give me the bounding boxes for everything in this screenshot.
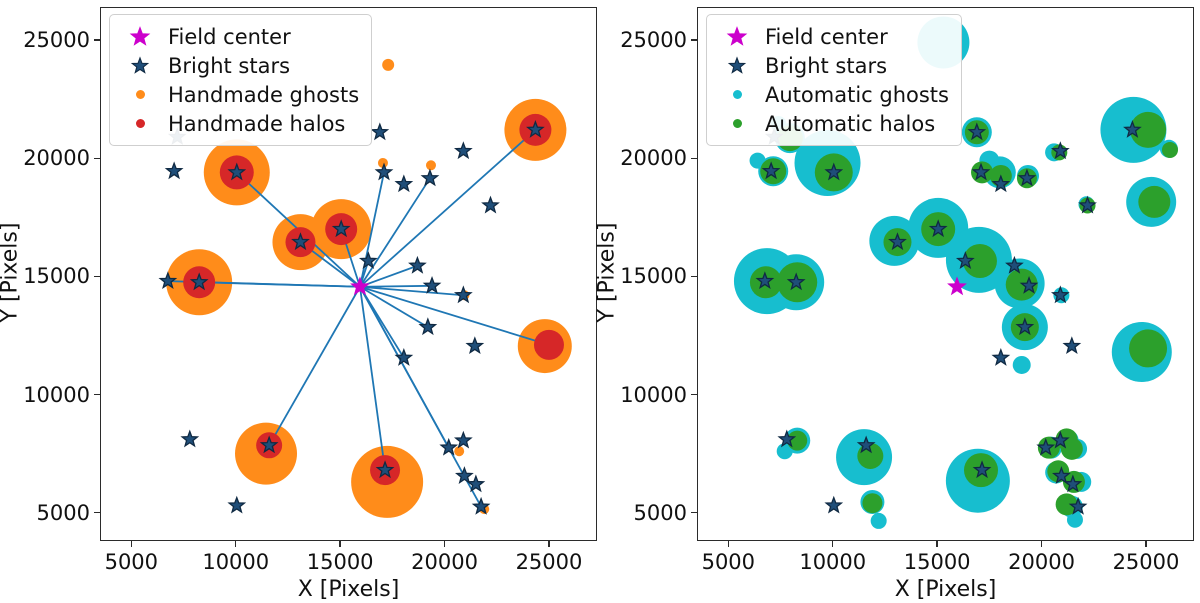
legend-item[interactable]: Automatic halos: [717, 109, 949, 138]
legend: Field centerBright starsAutomatic ghosts…: [706, 14, 962, 146]
legend-star-icon: [717, 26, 757, 48]
legend-item[interactable]: Field center: [717, 22, 949, 51]
bright-star-marker: [372, 124, 387, 138]
x-tickmark: [936, 541, 937, 547]
y-tickmark: [94, 394, 100, 395]
bright-star-marker: [410, 258, 425, 272]
x-tick-label: 15000: [307, 550, 374, 574]
y-tick-label: 25000: [597, 28, 687, 52]
x-tickmark: [548, 541, 549, 547]
y-tickmark: [94, 158, 100, 159]
x-tickmark: [832, 541, 833, 547]
handmade-ghost-marker: [382, 59, 394, 71]
x-tick-label: 20000: [1008, 550, 1075, 574]
legend-item[interactable]: Bright stars: [120, 51, 359, 80]
x-axis-title: X [Pixels]: [298, 577, 400, 602]
legend-circle-icon: [717, 90, 757, 99]
legend-label: Handmade ghosts: [168, 83, 359, 107]
y-axis-title: Y [Pixels]: [595, 213, 620, 333]
y-tick-label: 20000: [0, 146, 90, 170]
bright-star-marker: [396, 176, 411, 190]
bright-star-marker: [167, 163, 182, 177]
panel-handmade: 5000100001500020000250005000100001500020…: [0, 0, 600, 603]
legend-label: Handmade halos: [168, 112, 345, 136]
x-tickmark: [235, 541, 236, 547]
automatic-halo-marker: [1162, 142, 1178, 158]
y-tickmark: [691, 39, 697, 40]
y-tick-label: 20000: [597, 146, 687, 170]
automatic-halo-marker: [1138, 186, 1170, 218]
bright-star-marker: [441, 440, 456, 454]
y-tick-label: 10000: [597, 383, 687, 407]
legend-item[interactable]: Field center: [120, 22, 359, 51]
legend-item[interactable]: Handmade ghosts: [120, 80, 359, 109]
x-tick-label: 10000: [202, 550, 269, 574]
bright-star-marker: [424, 278, 439, 292]
handmade-ghost-marker: [426, 160, 436, 170]
y-tickmark: [691, 276, 697, 277]
bright-star-marker: [826, 498, 841, 512]
automatic-halo-marker: [1129, 329, 1167, 367]
radial-connector-line: [360, 287, 549, 345]
x-tick-label: 15000: [904, 550, 971, 574]
legend-item[interactable]: Bright stars: [717, 51, 949, 80]
bright-star-marker: [993, 350, 1008, 364]
automatic-halo-marker: [857, 443, 883, 469]
bright-star-marker: [396, 350, 411, 364]
legend-star-icon: [120, 55, 160, 77]
automatic-ghost-marker: [1013, 356, 1031, 374]
radial-connector-line: [360, 286, 432, 287]
legend-item[interactable]: Automatic ghosts: [717, 80, 949, 109]
bright-star-marker: [457, 468, 472, 482]
y-tick-label: 10000: [0, 383, 90, 407]
legend-item[interactable]: Handmade halos: [120, 109, 359, 138]
x-tickmark: [339, 541, 340, 547]
legend-label: Automatic ghosts: [765, 83, 949, 107]
legend-star-icon: [717, 55, 757, 77]
x-tickmark: [1041, 541, 1042, 547]
bright-star-marker: [420, 319, 435, 333]
x-tick-label: 5000: [702, 550, 755, 574]
legend: Field centerBright starsHandmade ghostsH…: [109, 14, 372, 146]
handmade-ghost-marker: [454, 446, 464, 456]
x-axis-title: X [Pixels]: [895, 577, 997, 602]
bright-star-marker: [229, 498, 244, 512]
bright-star-marker: [422, 170, 437, 184]
y-tickmark: [691, 394, 697, 395]
bright-star-marker: [467, 338, 482, 352]
x-tick-label: 5000: [105, 550, 158, 574]
legend-star-icon: [120, 26, 160, 48]
bright-star-marker: [456, 433, 471, 447]
automatic-ghost-marker: [871, 513, 887, 529]
legend-label: Field center: [168, 25, 291, 49]
figure-root: 5000100001500020000250005000100001500020…: [0, 0, 1200, 603]
y-axis-title: Y [Pixels]: [0, 213, 23, 333]
x-tick-label: 25000: [1113, 550, 1180, 574]
x-tickmark: [444, 541, 445, 547]
y-tickmark: [691, 512, 697, 513]
legend-circle-icon: [717, 119, 757, 128]
x-tickmark: [131, 541, 132, 547]
y-tick-label: 5000: [597, 501, 687, 525]
bright-star-marker: [483, 197, 498, 211]
x-tickmark: [1145, 541, 1146, 547]
legend-label: Bright stars: [765, 54, 887, 78]
legend-label: Bright stars: [168, 54, 290, 78]
radial-connector-line: [360, 130, 535, 287]
bright-star-marker: [1064, 338, 1079, 352]
y-tick-label: 5000: [0, 501, 90, 525]
x-tick-label: 10000: [799, 550, 866, 574]
y-tickmark: [94, 39, 100, 40]
y-tickmark: [691, 158, 697, 159]
automatic-halo-marker: [862, 493, 882, 513]
bright-star-marker: [456, 143, 471, 157]
legend-label: Field center: [765, 25, 888, 49]
handmade-halo-marker: [534, 330, 564, 360]
radial-connector-line: [269, 287, 360, 446]
legend-circle-icon: [120, 119, 160, 128]
y-tick-label: 25000: [0, 28, 90, 52]
radial-connector-line: [360, 287, 385, 470]
y-tickmark: [94, 512, 100, 513]
x-tickmark: [728, 541, 729, 547]
panel-automatic: 5000100001500020000250005000100001500020…: [600, 0, 1200, 603]
legend-circle-icon: [120, 90, 160, 99]
bright-star-marker: [182, 431, 197, 445]
y-tickmark: [94, 276, 100, 277]
x-tick-label: 25000: [516, 550, 583, 574]
legend-label: Automatic halos: [765, 112, 935, 136]
x-tick-label: 20000: [411, 550, 478, 574]
